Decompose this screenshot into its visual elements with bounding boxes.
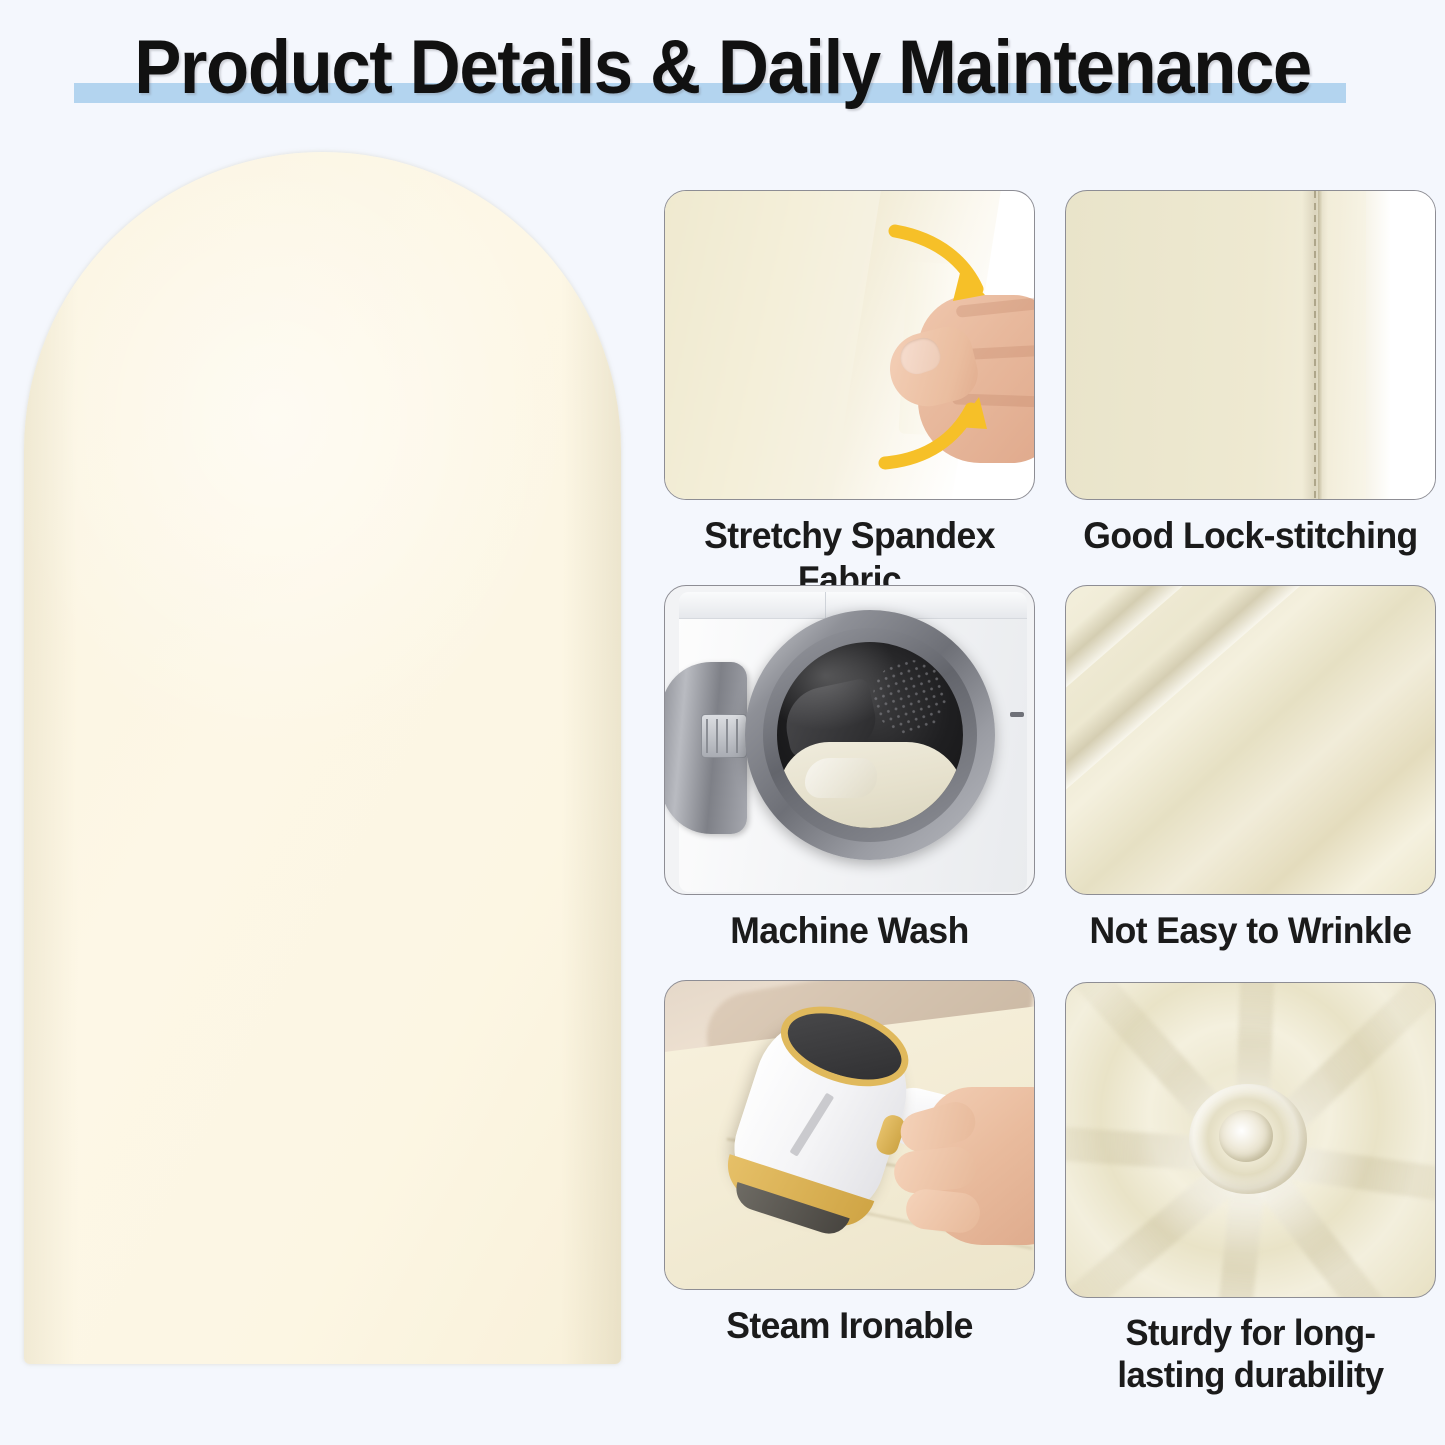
- washer-door-latch: [1010, 712, 1024, 717]
- durability-photo: [1065, 982, 1436, 1298]
- feature-caption: Good Lock-stitching: [1072, 514, 1428, 558]
- product-edge-shading: [24, 152, 621, 1364]
- not-easy-to-wrinkle-photo: [1065, 585, 1436, 895]
- feature-cell-machine-wash: Machine Wash: [664, 585, 1035, 953]
- drum-perforations: [863, 650, 956, 743]
- feature-caption: Sturdy for long- lasting durability: [1072, 1312, 1428, 1396]
- washer-drum: [777, 642, 963, 828]
- seam-fold: [1318, 191, 1322, 500]
- page-title: Product Details & Daily Maintenance: [51, 20, 1395, 116]
- stretch-arrows-icon: [665, 191, 1035, 500]
- feature-cell-not-easy-to-wrinkle: Not Easy to Wrinkle: [1065, 585, 1436, 953]
- washer-door-hinge: [701, 714, 747, 758]
- lock-stitching-photo: [1065, 190, 1436, 500]
- feature-cell-stretchy-spandex: Stretchy Spandex Fabric: [664, 190, 1035, 602]
- fabric-white-edge: [1366, 191, 1436, 500]
- feature-caption: Steam Ironable: [671, 1304, 1027, 1348]
- hand-icon: [890, 1077, 1035, 1247]
- washer-door-ring-inner: [763, 628, 977, 842]
- stretchy-spandex-photo: [664, 190, 1035, 500]
- product-highlight-sheen: [24, 152, 621, 1364]
- feature-cell-steam-ironable: Steam Ironable: [664, 980, 1035, 1348]
- feature-cell-long-lasting-durability: Sturdy for long- lasting durability: [1065, 982, 1436, 1396]
- washer-panel-seam: [825, 592, 826, 618]
- feature-grid: Stretchy Spandex Fabric Good Lock-stitch…: [664, 190, 1436, 1420]
- page-header: Product Details & Daily Maintenance: [0, 20, 1445, 120]
- cream-laundry-in-drum: [779, 742, 963, 828]
- steamer-brand-mark: [789, 1093, 834, 1157]
- stitch-line: [1314, 191, 1316, 500]
- machine-wash-photo: [664, 585, 1035, 895]
- feature-cell-lock-stitching: Good Lock-stitching: [1065, 190, 1436, 558]
- feature-caption: Not Easy to Wrinkle: [1072, 909, 1428, 953]
- arch-backdrop-product-image: [24, 152, 621, 1364]
- washer-door-ring: [745, 610, 995, 860]
- steam-ironable-photo: [664, 980, 1035, 1290]
- fabric-swirl-center: [1189, 1084, 1307, 1194]
- feature-caption: Machine Wash: [671, 909, 1027, 953]
